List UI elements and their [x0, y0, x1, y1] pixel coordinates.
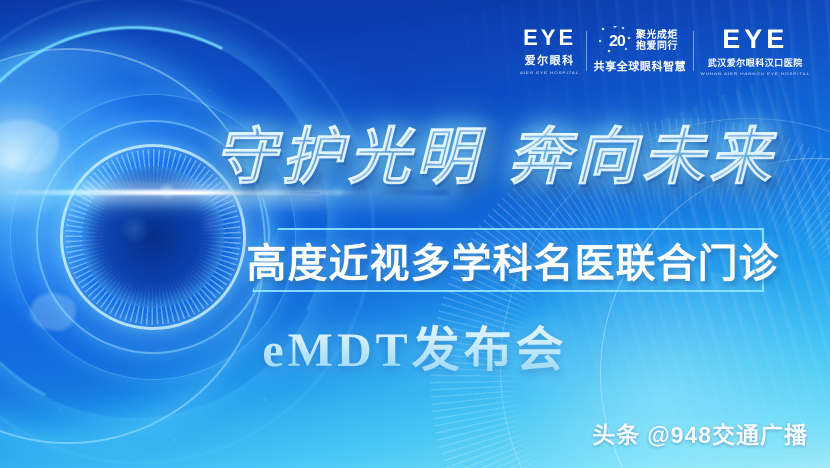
banner-headline: 守护光明 奔向未来: [214, 112, 814, 204]
eye-wordmark: EYE: [722, 26, 788, 53]
lens-flare-decoration: [198, 212, 222, 236]
anniversary-number: 20: [602, 29, 632, 55]
watermark-handle: @948交通广播: [647, 416, 808, 450]
banner-event-name: eMDT发布会: [0, 314, 830, 376]
lens-flare-decoration: [74, 178, 100, 204]
banner-subtitle: 高度近视多学科名医联合门诊: [252, 228, 764, 292]
banner-canvas: EYE 爱尔眼科 AIER EYE HOSPITAL 20 聚光成炬 抱爱同行 …: [0, 0, 830, 468]
banner-subtitle-band: 高度近视多学科名医联合门诊: [252, 228, 764, 292]
eye-wordmark: EYE: [523, 27, 576, 49]
watermark-platform: 头条: [592, 416, 640, 450]
logo-aier-cn-name: 爱尔眼科: [525, 52, 575, 68]
burst-icon: [599, 26, 635, 58]
logo-divider: [586, 31, 587, 71]
logo-hankou-en-name: WUHAN AIER HANKOU EYE HOSPITAL: [701, 71, 810, 76]
logo-bar: EYE 爱尔眼科 AIER EYE HOSPITAL 20 聚光成炬 抱爱同行 …: [520, 24, 810, 78]
logo-anniversary: 20 聚光成炬 抱爱同行 共享全球眼科智慧: [593, 29, 686, 74]
headline-part-2: 奔向未来: [508, 127, 776, 189]
lens-flare-decoration: [120, 214, 150, 244]
lens-flare-decoration: [158, 182, 176, 200]
anniversary-slogan: 聚光成炬 抱爱同行: [636, 31, 678, 52]
logo-aier-en-name: AIER EYE HOSPITAL: [520, 70, 579, 75]
slogan-line-1: 聚光成炬: [636, 31, 678, 42]
logo-hankou-cn-name: 武汉爱尔眼科汉口医院: [708, 56, 803, 69]
anniversary-tagline: 共享全球眼科智慧: [593, 58, 686, 74]
logo-divider: [693, 31, 694, 71]
slogan-line-2: 抱爱同行: [636, 42, 678, 53]
headline-part-1: 守护光明: [214, 127, 482, 189]
logo-wuhan-hankou: EYE 武汉爱尔眼科汉口医院 WUHAN AIER HANKOU EYE HOS…: [701, 26, 810, 76]
watermark: 头条 @948交通广播: [592, 416, 808, 450]
logo-aier-eye: EYE 爱尔眼科 AIER EYE HOSPITAL: [520, 27, 579, 75]
